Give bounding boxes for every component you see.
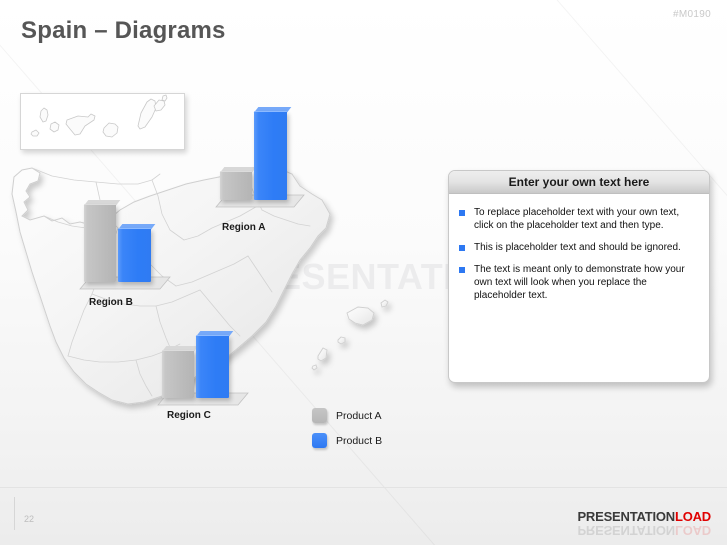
bar-group-region-a[interactable] [212,130,302,208]
brand-part-load: LOAD [675,509,711,524]
bar-front-face [118,228,151,282]
legend-swatch-product-a [312,408,327,423]
text-box-header: Enter your own text here [449,171,709,194]
bullet-text: To replace placeholder text with your ow… [474,206,699,232]
brand-reflection-part-load: LOAD [675,523,711,538]
legend-label-product-b: Product B [336,435,382,447]
bar-region-c-product-a[interactable] [162,351,194,398]
bar-front-face [162,350,194,398]
region-label-a: Region A [222,222,266,233]
presentationload-brand: PRESENTATIONLOAD [577,509,711,524]
legend-label-product-a: Product A [336,410,382,422]
bar-region-a-product-b[interactable] [254,112,287,200]
bar-front-face [220,171,252,200]
page-number-divider [14,497,15,530]
legend-swatch-product-b [312,433,327,448]
text-box-body[interactable]: To replace placeholder text with your ow… [449,194,709,319]
footer-divider [0,487,727,488]
region-label-c: Region C [167,410,211,421]
page-number: 22 [24,514,34,524]
bullet-item[interactable]: The text is meant only to demonstrate ho… [459,263,699,302]
region-label-b: Region B [89,297,133,308]
brand-reflection-part-presentation: PRESENTATION [577,523,675,538]
bar-region-b-product-a[interactable] [84,205,116,282]
bar-front-face [196,335,229,398]
template-code-label: #M0190 [673,9,711,20]
bullet-item[interactable]: This is placeholder text and should be i… [459,241,699,254]
bar-group-region-c[interactable] [154,330,246,406]
bullet-square-icon [459,245,465,251]
page-title: Spain – Diagrams [21,17,226,45]
slide-canvas: Spain – Diagrams #M0190 PRESENTATIONLOAD [0,0,727,545]
bar-front-face [254,111,287,200]
bullet-text: This is placeholder text and should be i… [474,241,681,254]
bar-region-a-product-a[interactable] [220,172,252,200]
bullet-item[interactable]: To replace placeholder text with your ow… [459,206,699,232]
presentationload-brand-reflection: PRESENTATIONLOAD [577,523,711,538]
bullet-text: The text is meant only to demonstrate ho… [474,263,699,302]
brand-part-presentation: PRESENTATION [577,509,675,524]
bar-front-face [84,204,116,282]
bar-group-region-b[interactable] [76,204,166,290]
text-placeholder-box[interactable]: Enter your own text here To replace plac… [448,170,710,383]
bullet-square-icon [459,267,465,273]
bar-region-b-product-b[interactable] [118,229,151,282]
legend-item-product-a[interactable]: Product A [312,408,382,423]
bullet-square-icon [459,210,465,216]
legend-item-product-b[interactable]: Product B [312,433,382,448]
bar-region-c-product-b[interactable] [196,336,229,398]
chart-legend: Product A Product B [312,408,382,458]
